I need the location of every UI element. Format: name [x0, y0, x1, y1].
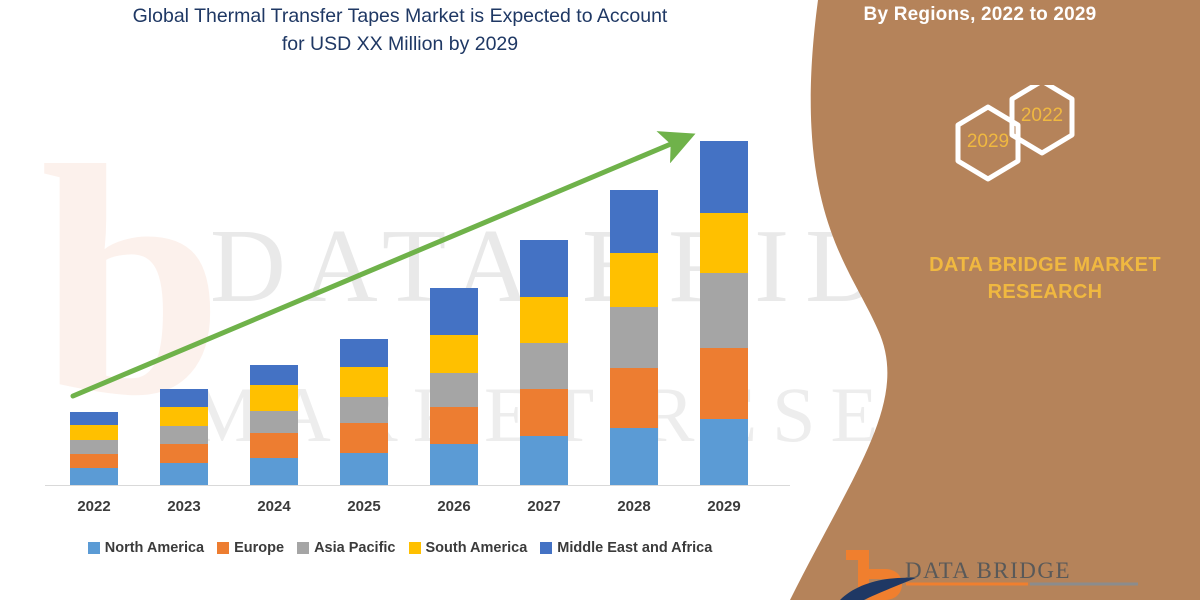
bar-segment-2022-middle-east-and-africa[interactable]	[70, 412, 118, 426]
legend-swatch-icon	[540, 542, 552, 554]
bar-segment-2025-north-america[interactable]	[340, 453, 388, 485]
chart-legend: North AmericaEuropeAsia PacificSouth Ame…	[0, 540, 800, 556]
x-axis-label-2026: 2026	[419, 498, 489, 515]
bar-segment-2026-north-america[interactable]	[430, 444, 478, 485]
bar-segment-2023-europe[interactable]	[160, 444, 208, 464]
bar-segment-2023-south-america[interactable]	[160, 407, 208, 427]
bar-segment-2023-asia-pacific[interactable]	[160, 426, 208, 444]
legend-item-north-america[interactable]: North America	[88, 540, 204, 556]
legend-item-europe[interactable]: Europe	[217, 540, 284, 556]
x-axis-label-2027: 2027	[509, 498, 579, 515]
legend-swatch-icon	[88, 542, 100, 554]
bars-container	[0, 0, 800, 485]
bar-segment-2024-middle-east-and-africa[interactable]	[250, 365, 298, 386]
bar-segment-2025-middle-east-and-africa[interactable]	[340, 339, 388, 366]
bar-2025[interactable]	[340, 339, 388, 485]
bar-segment-2024-north-america[interactable]	[250, 458, 298, 485]
bar-segment-2027-middle-east-and-africa[interactable]	[520, 240, 568, 298]
bar-segment-2028-south-america[interactable]	[610, 253, 658, 307]
bar-segment-2026-europe[interactable]	[430, 407, 478, 444]
plot-region: 20222023202420252026202720282029	[0, 0, 800, 540]
bar-segment-2029-asia-pacific[interactable]	[700, 273, 748, 348]
bar-segment-2022-north-america[interactable]	[70, 468, 118, 485]
bar-segment-2022-europe[interactable]	[70, 454, 118, 469]
legend-label: Middle East and Africa	[557, 540, 712, 556]
bar-segment-2025-europe[interactable]	[340, 423, 388, 452]
hexagon-2022	[1012, 85, 1072, 153]
x-axis-label-2029: 2029	[689, 498, 759, 515]
bar-2023[interactable]	[160, 389, 208, 485]
bar-segment-2029-north-america[interactable]	[700, 419, 748, 485]
bar-segment-2028-middle-east-and-africa[interactable]	[610, 190, 658, 254]
legend-item-middle-east-and-africa[interactable]: Middle East and Africa	[540, 540, 712, 556]
bar-2024[interactable]	[250, 365, 298, 485]
chart-area: Global Thermal Transfer Tapes Market is …	[0, 0, 800, 600]
legend-label: Europe	[234, 540, 284, 556]
x-axis-label-2024: 2024	[239, 498, 309, 515]
bar-2028[interactable]	[610, 190, 658, 485]
brand-name-line-1: DATA BRIDGE MARKET	[929, 254, 1161, 276]
bar-segment-2028-north-america[interactable]	[610, 428, 658, 485]
bar-segment-2029-middle-east-and-africa[interactable]	[700, 141, 748, 213]
brand-name-line-2: RESEARCH	[880, 279, 1200, 306]
bar-segment-2026-asia-pacific[interactable]	[430, 373, 478, 407]
legend-item-asia-pacific[interactable]: Asia Pacific	[297, 540, 395, 556]
footer-logo-text: DATA BRIDGE	[905, 558, 1071, 584]
legend-swatch-icon	[297, 542, 309, 554]
x-axis-label-2025: 2025	[329, 498, 399, 515]
bar-segment-2029-south-america[interactable]	[700, 213, 748, 273]
x-axis-label-2028: 2028	[599, 498, 669, 515]
bar-segment-2024-asia-pacific[interactable]	[250, 411, 298, 433]
bar-2026[interactable]	[430, 288, 478, 485]
bar-segment-2022-south-america[interactable]	[70, 425, 118, 440]
bar-segment-2028-europe[interactable]	[610, 368, 658, 429]
x-axis-label-2022: 2022	[59, 498, 129, 515]
x-axis-line	[45, 485, 790, 486]
legend-item-south-america[interactable]: South America	[409, 540, 528, 556]
bar-segment-2023-middle-east-and-africa[interactable]	[160, 389, 208, 407]
bar-segment-2026-middle-east-and-africa[interactable]	[430, 288, 478, 335]
legend-label: Asia Pacific	[314, 540, 395, 556]
bar-segment-2027-north-america[interactable]	[520, 436, 568, 485]
bar-2029[interactable]	[700, 141, 748, 485]
legend-swatch-icon	[409, 542, 421, 554]
bar-segment-2028-asia-pacific[interactable]	[610, 307, 658, 368]
legend-label: South America	[426, 540, 528, 556]
bar-segment-2022-asia-pacific[interactable]	[70, 440, 118, 454]
bar-segment-2027-europe[interactable]	[520, 389, 568, 436]
bar-segment-2025-south-america[interactable]	[340, 367, 388, 397]
bar-segment-2024-south-america[interactable]	[250, 385, 298, 410]
panel-title: By Regions, 2022 to 2029	[760, 0, 1200, 26]
bar-segment-2024-europe[interactable]	[250, 433, 298, 457]
bar-2027[interactable]	[520, 240, 568, 485]
bar-segment-2027-asia-pacific[interactable]	[520, 343, 568, 389]
hexagon-2029	[958, 107, 1018, 179]
bar-segment-2026-south-america[interactable]	[430, 335, 478, 372]
x-axis-label-2023: 2023	[149, 498, 219, 515]
brand-name: DATA BRIDGE MARKET RESEARCH	[880, 252, 1200, 306]
infographic-root: b DATA BRIDGE MARKET RESEARCH By Regions…	[0, 0, 1200, 600]
legend-swatch-icon	[217, 542, 229, 554]
bar-segment-2027-south-america[interactable]	[520, 297, 568, 343]
legend-label: North America	[105, 540, 204, 556]
bar-segment-2023-north-america[interactable]	[160, 463, 208, 485]
hexagon-years-group	[920, 85, 1120, 225]
bar-2022[interactable]	[70, 412, 118, 485]
bar-segment-2029-europe[interactable]	[700, 348, 748, 419]
bar-segment-2025-asia-pacific[interactable]	[340, 397, 388, 423]
